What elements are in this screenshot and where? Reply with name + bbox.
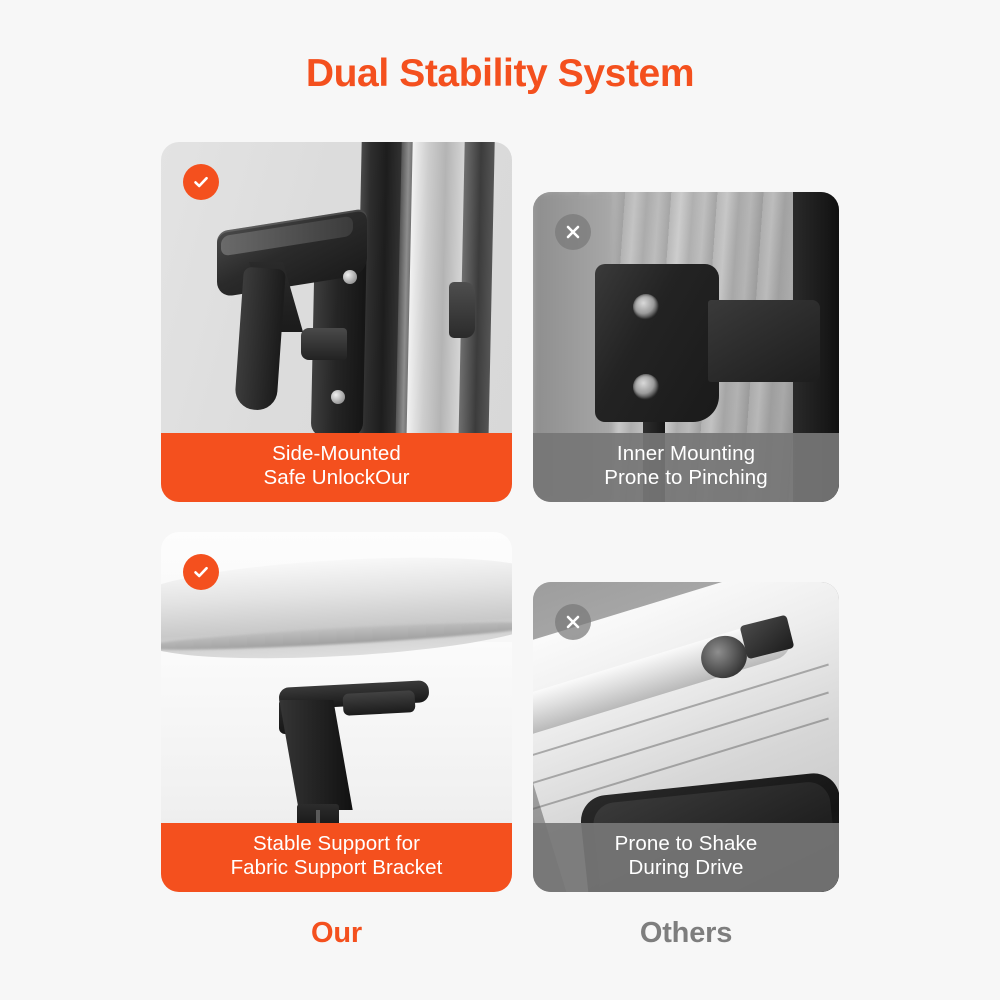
caption-line-1: Prone to Shake [615,832,758,855]
footer-label-our: Our [161,917,512,950]
card-our-side-mounted[interactable]: Side-Mounted Safe UnlockOur [161,142,512,502]
comparison-page: Dual Stability System Side-Mounted [0,0,1000,1000]
caption-line-1: Inner Mounting [617,442,755,465]
card-other-prone-to-shake[interactable]: Prone to Shake During Drive [533,582,839,892]
caption-line-2: Safe UnlockOur [171,466,502,490]
x-circle-icon [555,604,591,640]
check-circle-icon [183,554,219,590]
page-title: Dual Stability System [0,52,1000,96]
caption-our-fabric-support-bracket: Stable Support for Fabric Support Bracke… [161,823,512,892]
caption-our-side-mounted: Side-Mounted Safe UnlockOur [161,433,512,502]
footer-label-others: Others [533,917,839,950]
caption-line-1: Stable Support for [253,832,420,855]
caption-line-1: Side-Mounted [272,442,401,465]
caption-line-2: During Drive [543,856,829,880]
card-our-fabric-support-bracket[interactable]: Stable Support for Fabric Support Bracke… [161,532,512,892]
caption-line-2: Prone to Pinching [543,466,829,490]
x-circle-icon [555,214,591,250]
check-circle-icon [183,164,219,200]
caption-line-2: Fabric Support Bracket [171,856,502,880]
caption-other-prone-to-shake: Prone to Shake During Drive [533,823,839,892]
card-other-inner-mounting[interactable]: Inner Mounting Prone to Pinching [533,192,839,502]
caption-other-inner-mounting: Inner Mounting Prone to Pinching [533,433,839,502]
